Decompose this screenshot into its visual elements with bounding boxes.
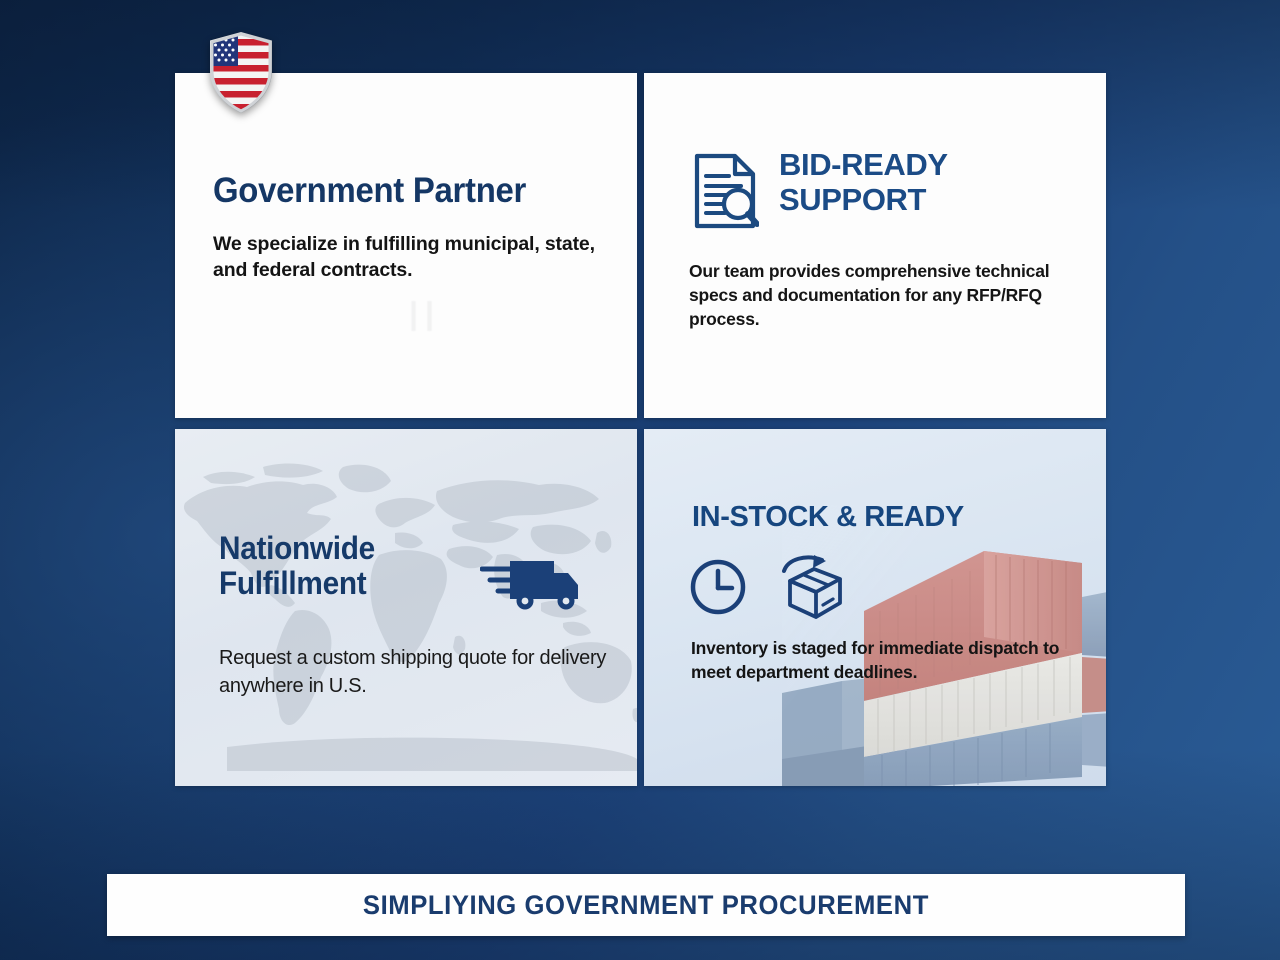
document-magnifier-icon: [691, 152, 759, 230]
card-in-stock-body: Inventory is staged for immediate dispat…: [691, 636, 1066, 684]
world-map-graphic: [175, 451, 637, 771]
slide-canvas: Government Partner We specialize in fulf…: [0, 0, 1280, 960]
card-government-partner-content: Government Partner We specialize in fulf…: [213, 173, 607, 284]
card-nationwide-body: Request a custom shipping quote for deli…: [219, 644, 615, 700]
watermark-artifact: [403, 301, 449, 331]
card-government-partner-body: We specialize in fulfilling municipal, s…: [213, 232, 607, 284]
card-nationwide-fulfillment[interactable]: Nationwide Fulfillment Request a custom …: [175, 429, 637, 786]
card-bid-ready-support[interactable]: BID-READY SUPPORT Our team provides comp…: [644, 73, 1106, 418]
clock-icon: [688, 557, 748, 617]
card-nationwide-title: Nationwide Fulfillment: [219, 531, 375, 600]
card-in-stock-title: IN-STOCK & READY: [692, 501, 964, 534]
card-in-stock-ready[interactable]: IN-STOCK & READY Inventory is st: [644, 429, 1106, 786]
card-bid-ready-body: Our team provides comprehensive technica…: [689, 259, 1080, 331]
card-bid-ready-title: BID-READY SUPPORT: [779, 148, 948, 217]
package-rotate-icon: [778, 555, 846, 619]
bottom-banner[interactable]: SIMPLIYING GOVERNMENT PROCUREMENT: [107, 874, 1185, 936]
delivery-truck-icon: [480, 553, 582, 611]
card-in-stock-icon-row: [688, 555, 846, 619]
bottom-banner-text: SIMPLIYING GOVERNMENT PROCUREMENT: [363, 890, 929, 921]
feature-card-grid: Government Partner We specialize in fulf…: [175, 73, 1106, 786]
card-government-partner[interactable]: Government Partner We specialize in fulf…: [175, 73, 637, 418]
card-bid-ready-header: BID-READY SUPPORT: [691, 148, 948, 230]
card-government-partner-title: Government Partner: [213, 173, 583, 210]
us-flag-shield-icon: [207, 31, 275, 114]
